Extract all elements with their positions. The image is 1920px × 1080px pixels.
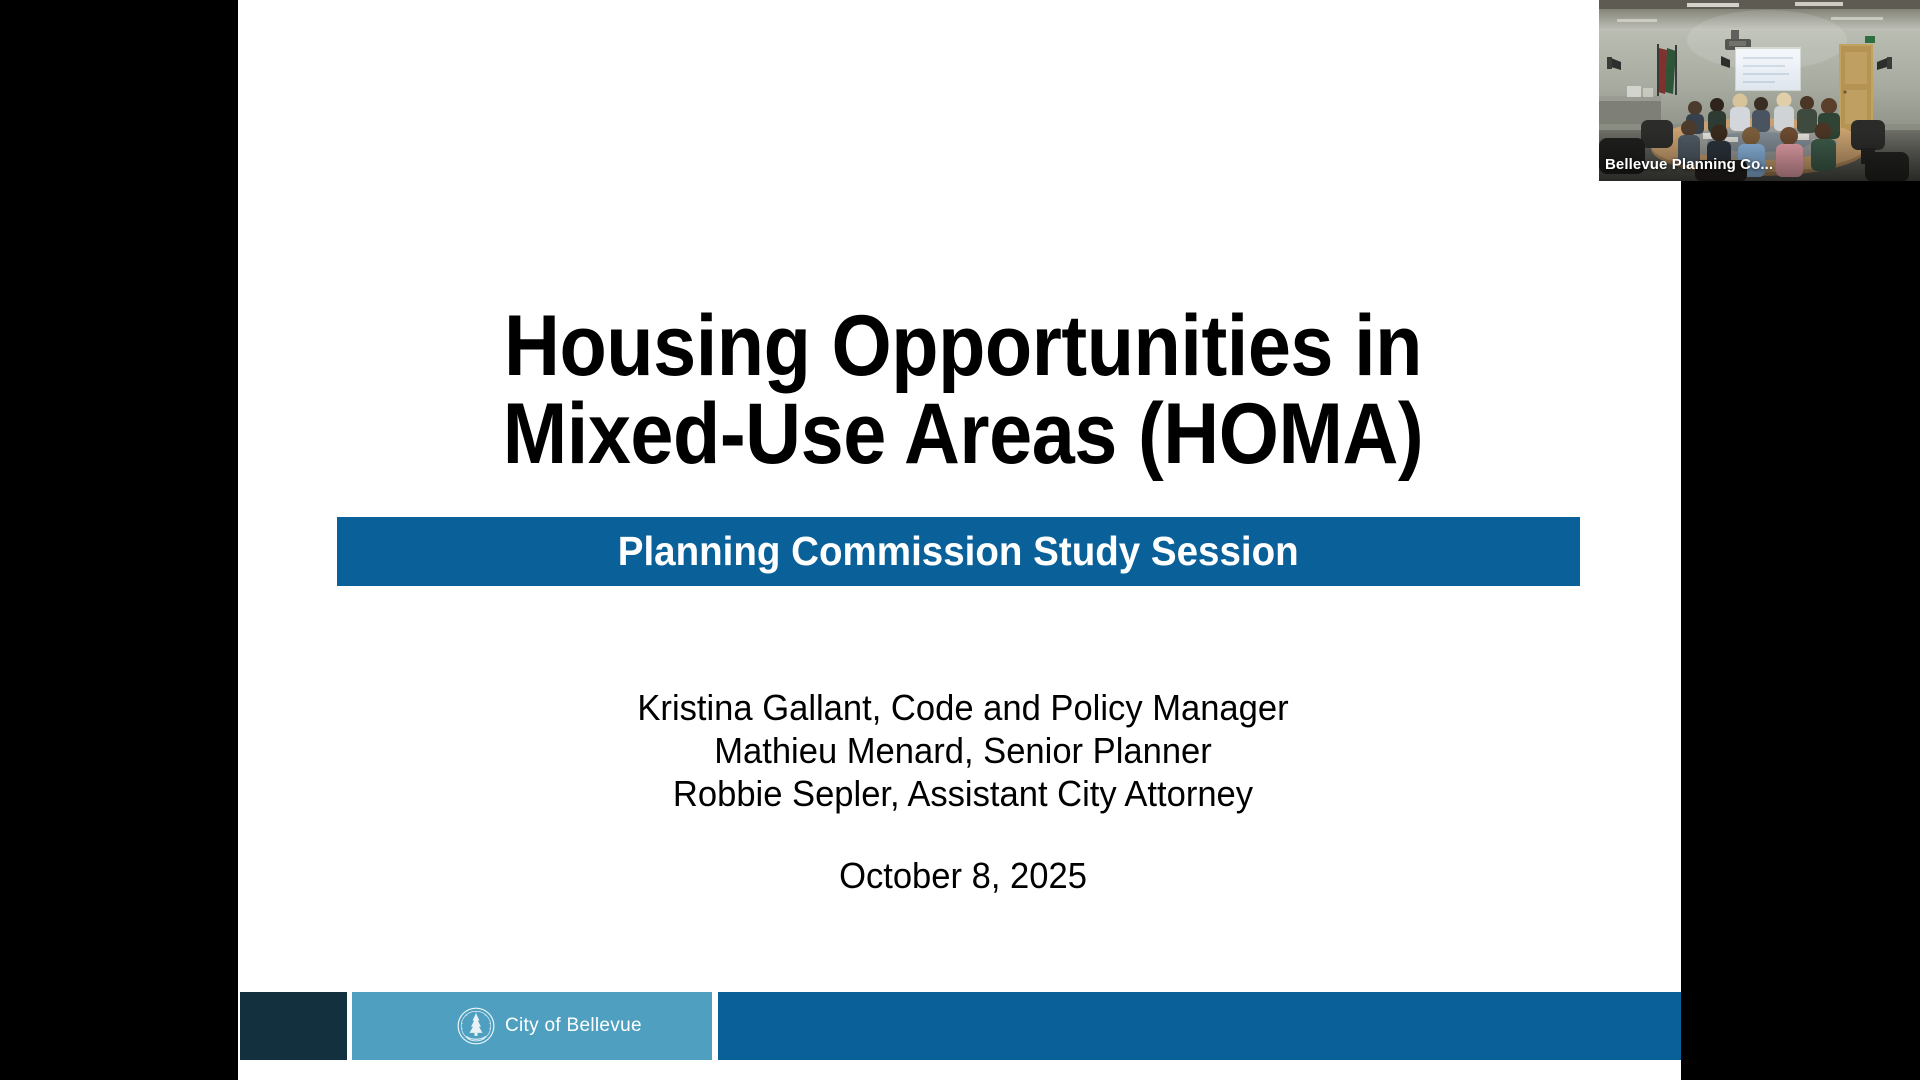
city-wordmark: City of Bellevue xyxy=(505,1015,642,1037)
slide-footer: City of Bellevue xyxy=(238,992,1681,1060)
slide-date: October 8, 2025 xyxy=(325,855,1602,897)
footer-blue-block xyxy=(718,992,1681,1060)
footer-navy-block xyxy=(240,992,347,1060)
footer-brand-block: City of Bellevue xyxy=(352,992,712,1060)
page-title: Housing Opportunities in Mixed-Use Areas… xyxy=(365,302,1562,479)
council-chamber-image xyxy=(1599,0,1920,181)
presenter-line: Mathieu Menard, Senior Planner xyxy=(325,730,1602,773)
subtitle-banner: Planning Commission Study Session xyxy=(337,517,1580,586)
presenter-list: Kristina Gallant, Code and Policy Manage… xyxy=(298,687,1628,815)
presenter-line: Robbie Sepler, Assistant City Attorney xyxy=(325,773,1602,816)
presentation-slide: Housing Opportunities in Mixed-Use Areas… xyxy=(238,0,1681,1080)
city-seal-icon xyxy=(457,1007,495,1045)
subtitle-text: Planning Commission Study Session xyxy=(618,528,1299,575)
presenter-line: Kristina Gallant, Code and Policy Manage… xyxy=(325,687,1602,730)
screen: Housing Opportunities in Mixed-Use Areas… xyxy=(0,0,1920,1080)
video-thumbnail-label: Bellevue Planning Co... xyxy=(1605,156,1773,173)
city-logo-group: City of Bellevue xyxy=(457,1007,642,1045)
video-thumbnail[interactable]: Bellevue Planning Co... xyxy=(1599,0,1920,181)
